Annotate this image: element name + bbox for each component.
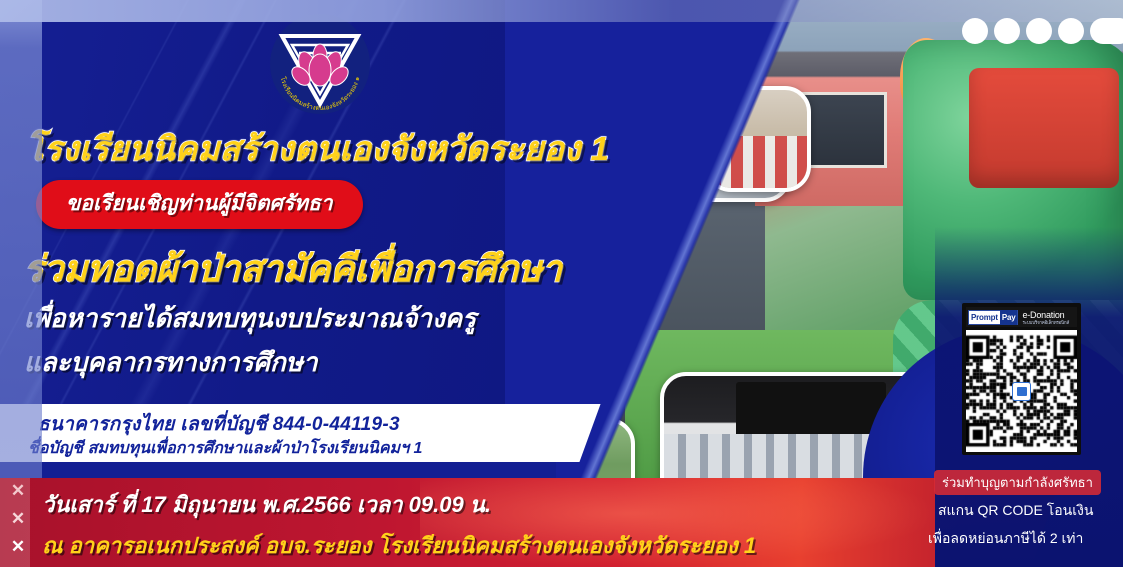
school-crest-icon: โรงเรียนนิคมสร้างตนเองจังหวัดระยอง ๑ xyxy=(268,12,372,116)
promptpay-label-a: Prompt xyxy=(969,313,1000,322)
qr-code-matrix[interactable] xyxy=(966,330,1077,452)
edonation-sublabel: ระบบบริจาคอิเล็กทรอนิกส์ xyxy=(1022,320,1069,325)
bank-account-name-line: ชื่อบัญชี สมทบทุนเพื่อการศึกษาและผ้าป่าโ… xyxy=(28,436,422,461)
photo-playground-red xyxy=(969,68,1119,188)
invitation-badge-label: ขอเรียนเชิญท่านผู้มีจิตศรัทธา xyxy=(66,192,333,215)
bank-account-number-line: ธนาคารกรุงไทย เลขที่บัญชี 844-0-44119-3 xyxy=(38,409,400,439)
scan-instruction-line-1: สแกน QR CODE โอนเงิน xyxy=(938,500,1093,522)
headline-main: ร่วมทอดผ้าป่าสามัคคีเพื่อการศึกษา xyxy=(24,240,562,297)
overlay-dot-1[interactable] xyxy=(962,18,988,44)
event-date-line: วันเสาร์ ที่ 17 มิถุนายน พ.ศ.2566 เวลา 0… xyxy=(42,487,491,522)
close-icon-2[interactable]: ✕ xyxy=(10,511,26,527)
promptpay-label-b: Pay xyxy=(1000,310,1018,325)
qr-center-logo-icon xyxy=(1012,382,1031,401)
subheadline-2: และบุคลากรทางการศึกษา xyxy=(24,342,318,383)
qr-card-header: PromptPay e-Donation ระบบบริจาคอิเล็กทรอ… xyxy=(966,307,1077,327)
invitation-badge: ขอเรียนเชิญท่านผู้มีจิตศรัทธา xyxy=(36,180,363,229)
event-venue-line: ณ อาคารอเนกประสงค์ อบจ.ระยอง โรงเรียนนิค… xyxy=(42,528,756,563)
donation-poster: โรงเรียนนิคมสร้างตนเองจังหวัดระยอง ๑ โรง… xyxy=(0,0,1123,567)
page-title: โรงเรียนนิคมสร้างตนเองจังหวัดระยอง 1 xyxy=(26,122,609,175)
donate-invite-label: ร่วมทำบุญตามกำลังศรัทธา xyxy=(942,475,1093,490)
promptpay-qr-card[interactable]: PromptPay e-Donation ระบบบริจาคอิเล็กทรอ… xyxy=(962,303,1081,455)
overlay-pill-5[interactable] xyxy=(1090,18,1123,44)
overlay-dot-4[interactable] xyxy=(1058,18,1084,44)
close-icon-3[interactable]: ✕ xyxy=(10,539,26,555)
donate-invite-badge: ร่วมทำบุญตามกำลังศรัทธา xyxy=(934,470,1101,495)
overlay-dot-row[interactable] xyxy=(962,18,1123,44)
overlay-dot-3[interactable] xyxy=(1026,18,1052,44)
photo-classroom-activity xyxy=(705,86,811,192)
promptpay-logo-icon: PromptPay xyxy=(968,310,1018,325)
close-icon-1[interactable]: ✕ xyxy=(10,483,26,499)
scan-instruction-line-2: เพื่อลดหย่อนภาษีได้ 2 เท่า xyxy=(928,528,1083,550)
band-divider xyxy=(0,462,556,478)
overlay-dot-2[interactable] xyxy=(994,18,1020,44)
photo-students-walkway xyxy=(505,286,613,408)
subheadline-1: เพื่อหารายได้สมทบทุนงบประมาณจ้างครู xyxy=(24,298,476,339)
edonation-label: e-Donation ระบบบริจาคอิเล็กทรอนิกส์ xyxy=(1022,310,1069,325)
photo-fair-screen xyxy=(736,382,886,438)
